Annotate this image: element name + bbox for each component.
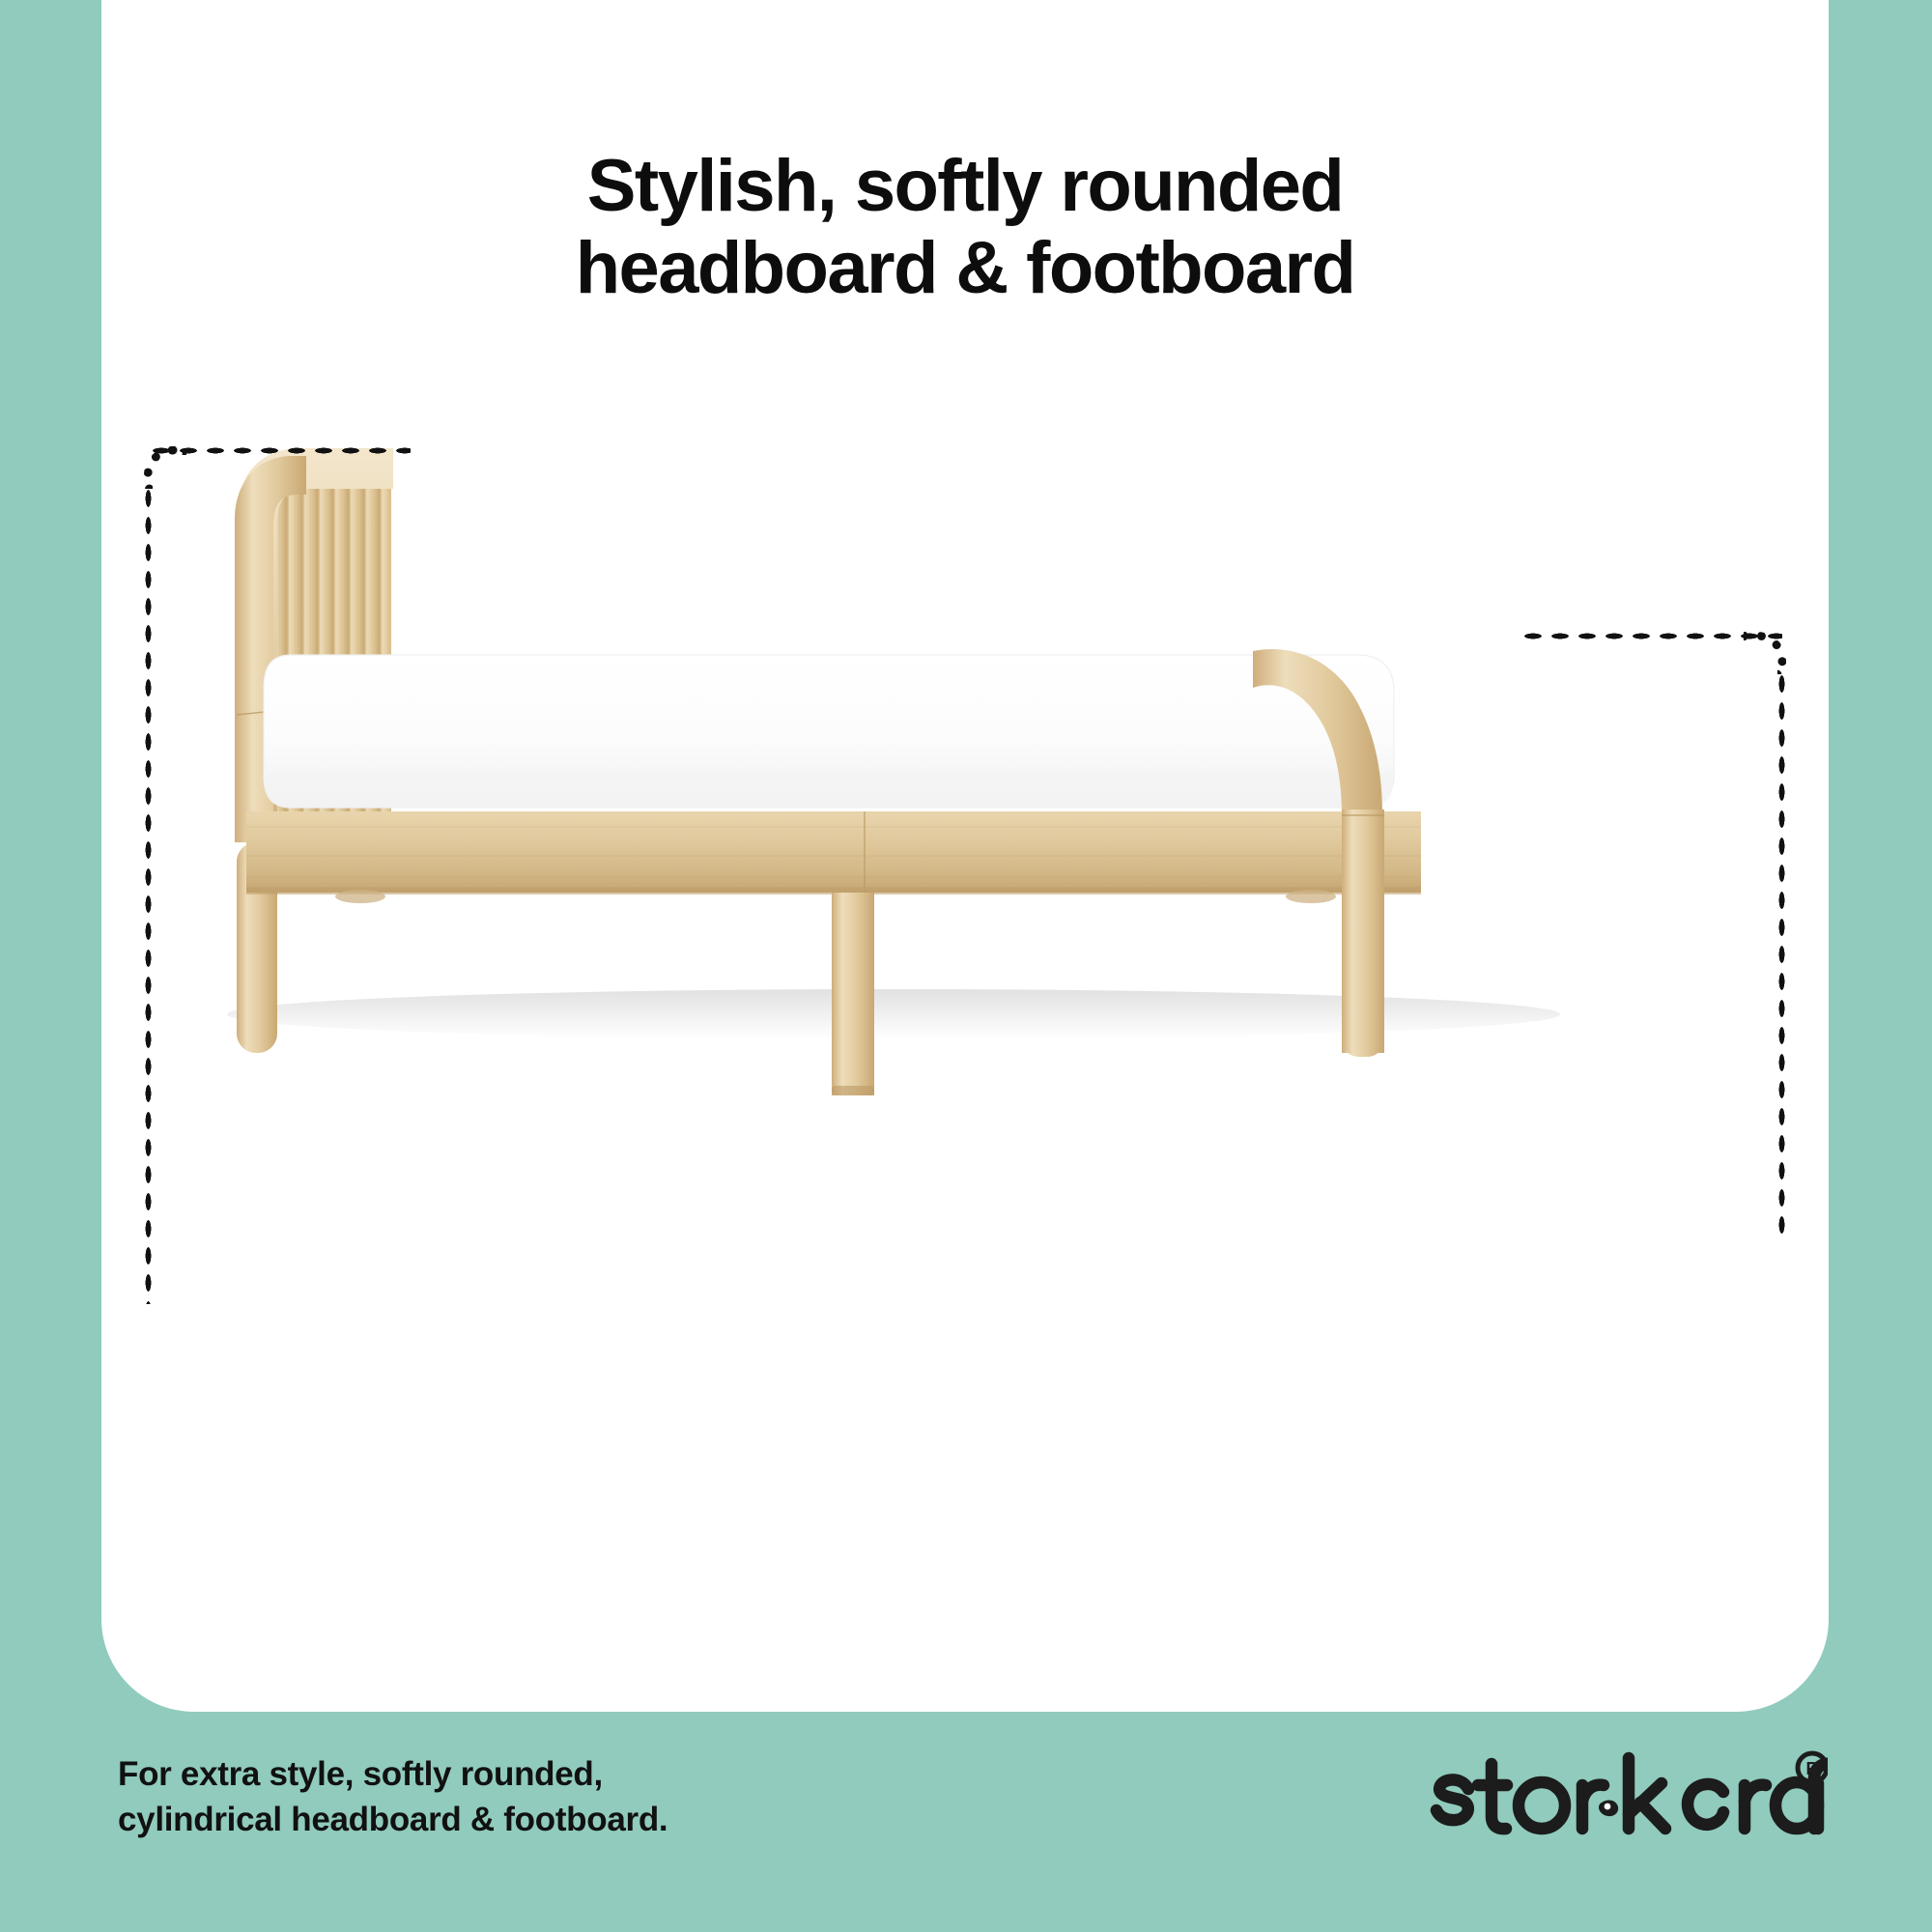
stork-bird-mark bbox=[1599, 1801, 1618, 1817]
product-stage bbox=[101, 406, 1829, 1372]
bracket-side-segment bbox=[144, 485, 153, 1304]
footer-caption-line-1: For extra style, softly rounded, bbox=[118, 1751, 668, 1798]
headline-line-2: headboard & footboard bbox=[101, 227, 1829, 309]
page-title: Stylish, softly rounded headboard & foot… bbox=[101, 145, 1829, 309]
headline-line-1: Stylish, softly rounded bbox=[587, 145, 1343, 227]
svg-text:R: R bbox=[1806, 1759, 1819, 1778]
footer-caption: For extra style, softly rounded, cylindr… bbox=[118, 1751, 668, 1843]
footer-caption-line-2: cylindrical headboard & footboard. bbox=[118, 1797, 668, 1843]
storkcraft-logo: R storkcraft bbox=[1422, 1747, 1828, 1849]
bracket-top-segment bbox=[148, 446, 411, 455]
headboard-callout-bracket bbox=[101, 406, 507, 1352]
storkcraft-wordmark: R bbox=[1422, 1747, 1828, 1849]
bracket-side-segment bbox=[1777, 670, 1786, 1242]
footboard-callout-bracket bbox=[1423, 591, 1829, 1364]
